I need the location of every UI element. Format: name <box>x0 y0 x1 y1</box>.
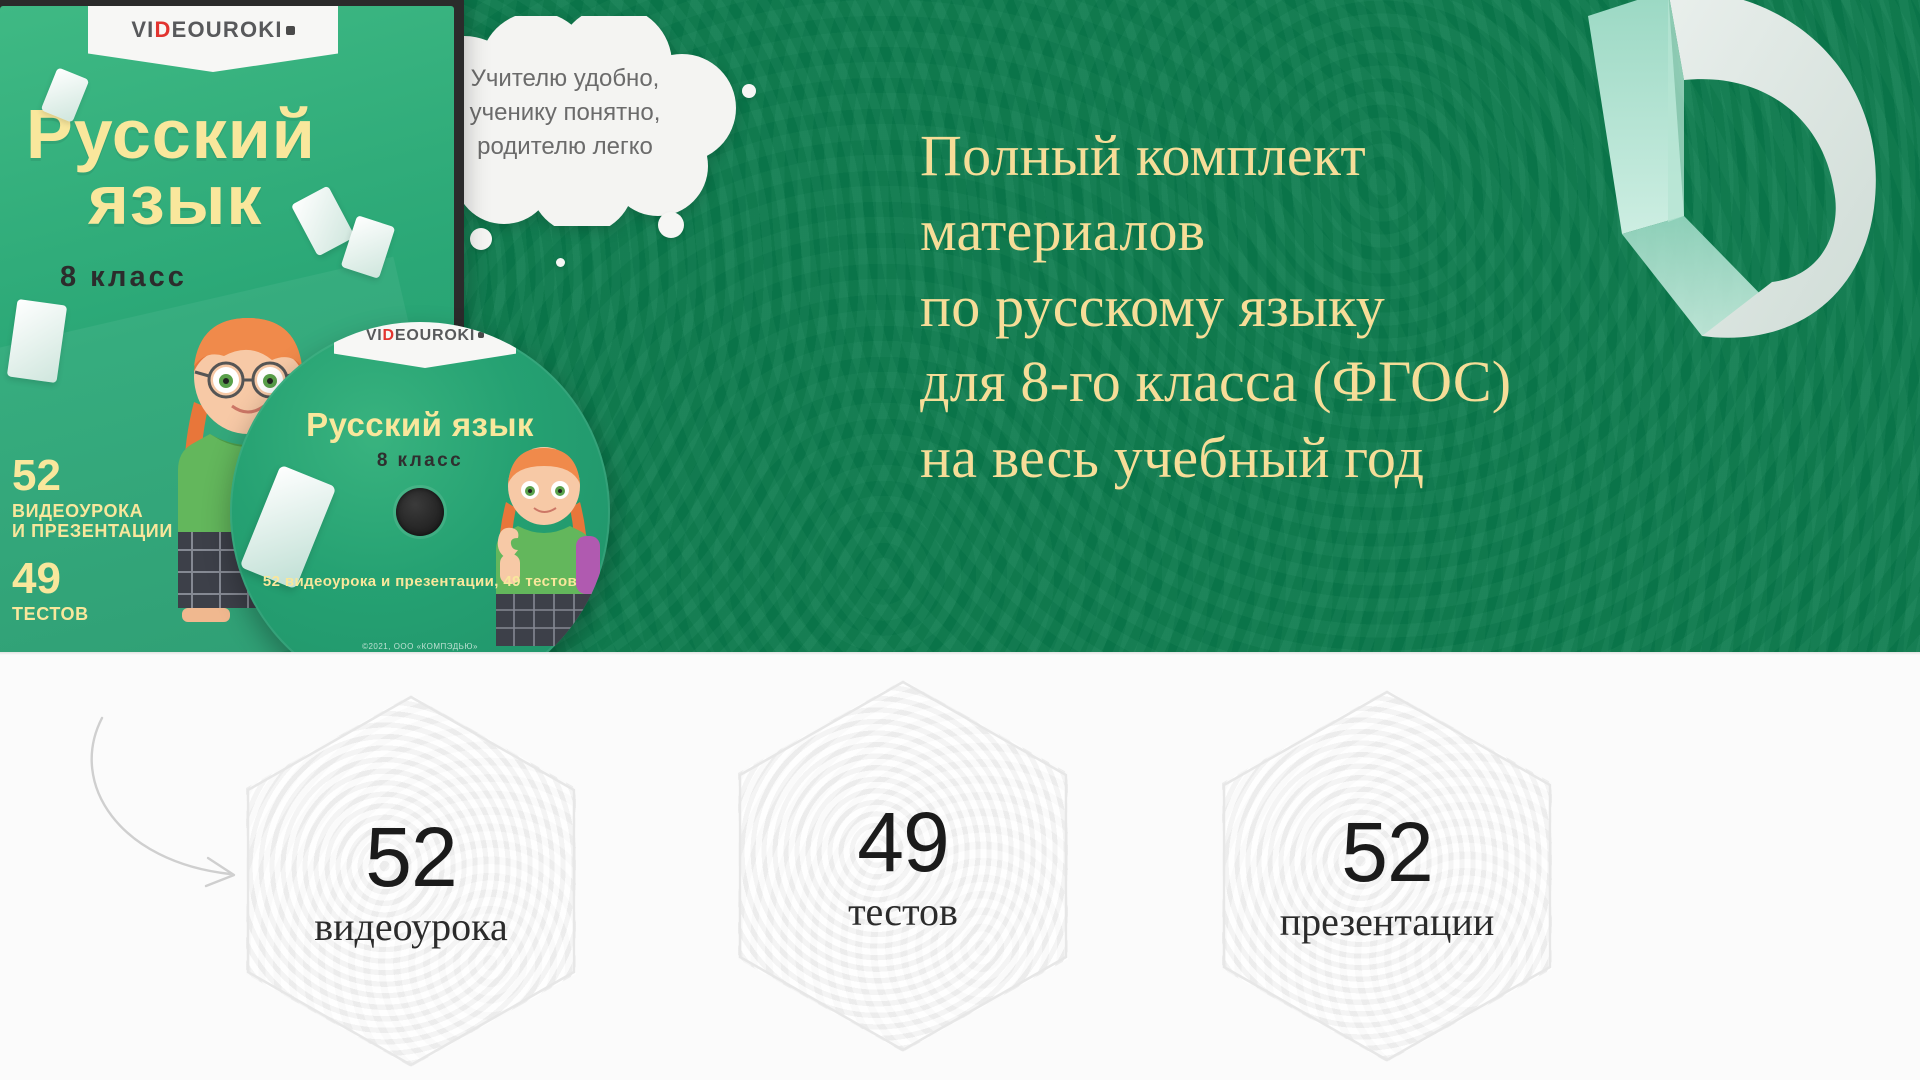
stat-label: видеоурока <box>314 907 507 947</box>
stat-value: 49 <box>857 800 948 884</box>
videouroki-logo: VIDEOUROKI <box>88 6 338 72</box>
disc-copyright: ©2021, ООО «КОМПЭДЬЮ» <box>230 642 610 651</box>
page-title: Полный комплект материалов по русскому я… <box>920 118 1820 495</box>
stat-hexagon-videolessons: 52 видеоурока <box>246 695 576 1067</box>
package-grade: 8 класс <box>60 261 187 294</box>
student-girl-illustration-disc <box>484 440 604 652</box>
stat-value: 52 <box>1341 810 1432 894</box>
videouroki-logo-disc: VIDEOUROKI <box>334 322 516 368</box>
bubble-dot <box>556 258 565 267</box>
stat-label: тестов <box>848 892 958 932</box>
promo-banner-page: Полный комплект материалов по русскому я… <box>0 0 1920 1080</box>
package-stats: 52 ВИДЕОУРОКА И ПРЕЗЕНТАЦИИ 49 ТЕСТОВ <box>12 454 242 624</box>
disc-stats: 52 видеоурока и презентации, 49 тестов <box>230 572 610 592</box>
stat-hexagon-presentations: 52 презентации <box>1222 690 1552 1062</box>
disc-title: Русский язык <box>230 406 610 444</box>
bubble-dot <box>470 228 492 250</box>
disc-center-hole <box>396 488 444 536</box>
stat-label: презентации <box>1280 902 1495 942</box>
bubble-dot <box>658 212 684 238</box>
bubble-dot <box>742 84 756 98</box>
green-hero-banner: Полный комплект материалов по русскому я… <box>0 0 1920 652</box>
stats-hexagon-row: 52 видеоурока 49 тестов 52 презентации <box>0 655 1920 1080</box>
stat-hexagon-tests: 49 тестов <box>738 680 1068 1052</box>
stat-value: 52 <box>365 815 456 899</box>
package-title: Русскийязык <box>26 102 446 234</box>
bubble-text: Учителю удобно, ученику понятно, родител… <box>430 62 700 164</box>
